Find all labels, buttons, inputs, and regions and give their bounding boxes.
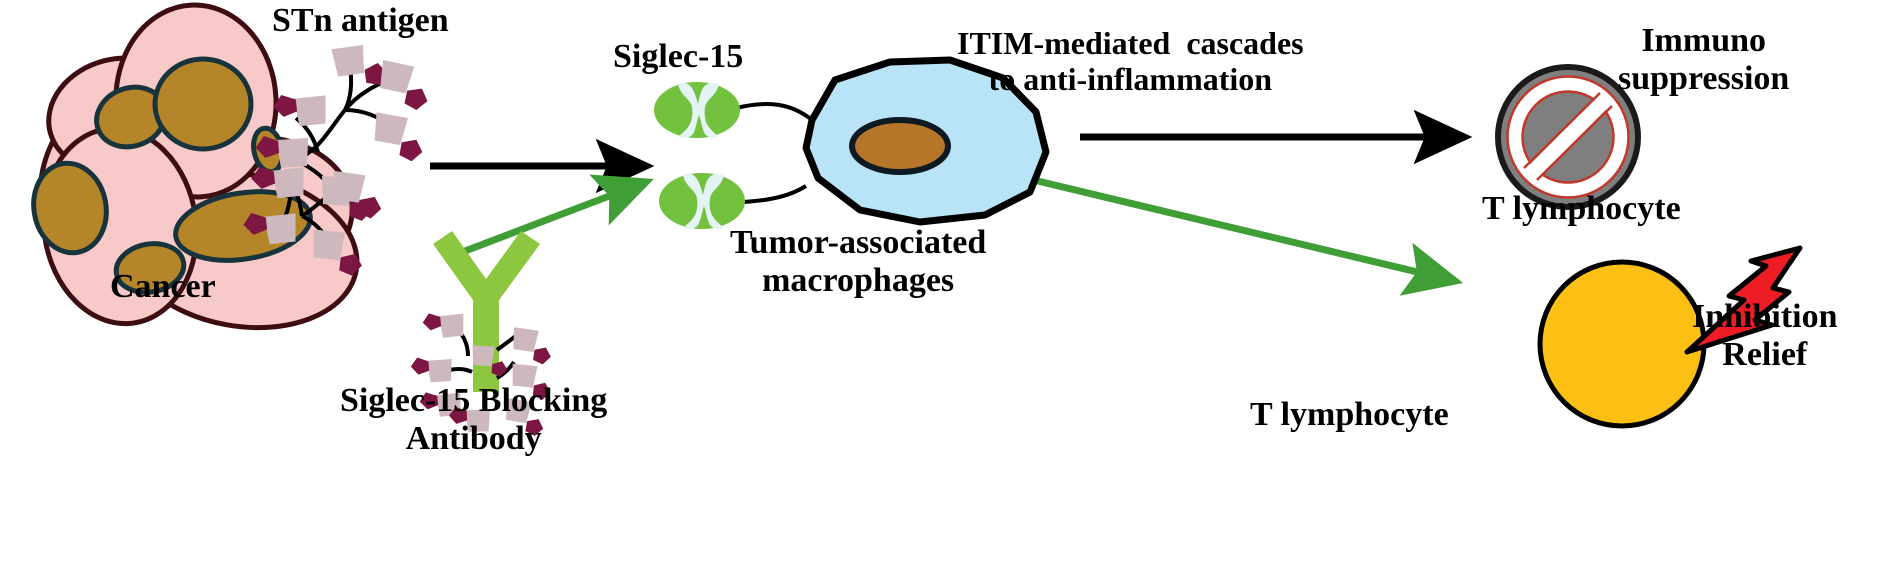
label-t-lymphocyte-activated: T lymphocyte: [1250, 396, 1449, 434]
diagram-canvas: STn antigen Cancer Siglec-15 Tumor-assoc…: [0, 0, 1900, 564]
label-inhibition-relief: Inhibition Relief: [1692, 298, 1838, 374]
label-stn-antigen: STn antigen: [272, 2, 449, 40]
label-immuno-suppression: Immuno suppression: [1618, 22, 1789, 98]
label-itim-cascades: ITIM-mediated cascades to anti-inflammat…: [957, 26, 1304, 98]
label-blocking-antibody: Siglec-15 Blocking Antibody: [340, 382, 607, 458]
label-siglec-15: Siglec-15: [613, 38, 743, 76]
siglec-stalk-upper: [736, 104, 812, 120]
arrow-macrophage-to-relief: [1000, 172, 1455, 281]
label-cancer: Cancer: [110, 268, 216, 306]
macrophage-nucleus: [852, 120, 948, 172]
label-t-lymphocyte-suppressed: T lymphocyte: [1482, 190, 1681, 228]
label-tumor-associated-macrophages: Tumor-associated macrophages: [730, 224, 986, 300]
siglec-15-receptor-lower: [659, 173, 745, 229]
suppressed-t-lymphocyte: [1498, 67, 1638, 207]
activated-t-lymphocyte: [1540, 262, 1704, 426]
arrow-antibody-to-siglec: [452, 182, 646, 256]
siglec-stalk-lower: [744, 186, 806, 202]
siglec-15-receptor-upper: [654, 82, 740, 138]
